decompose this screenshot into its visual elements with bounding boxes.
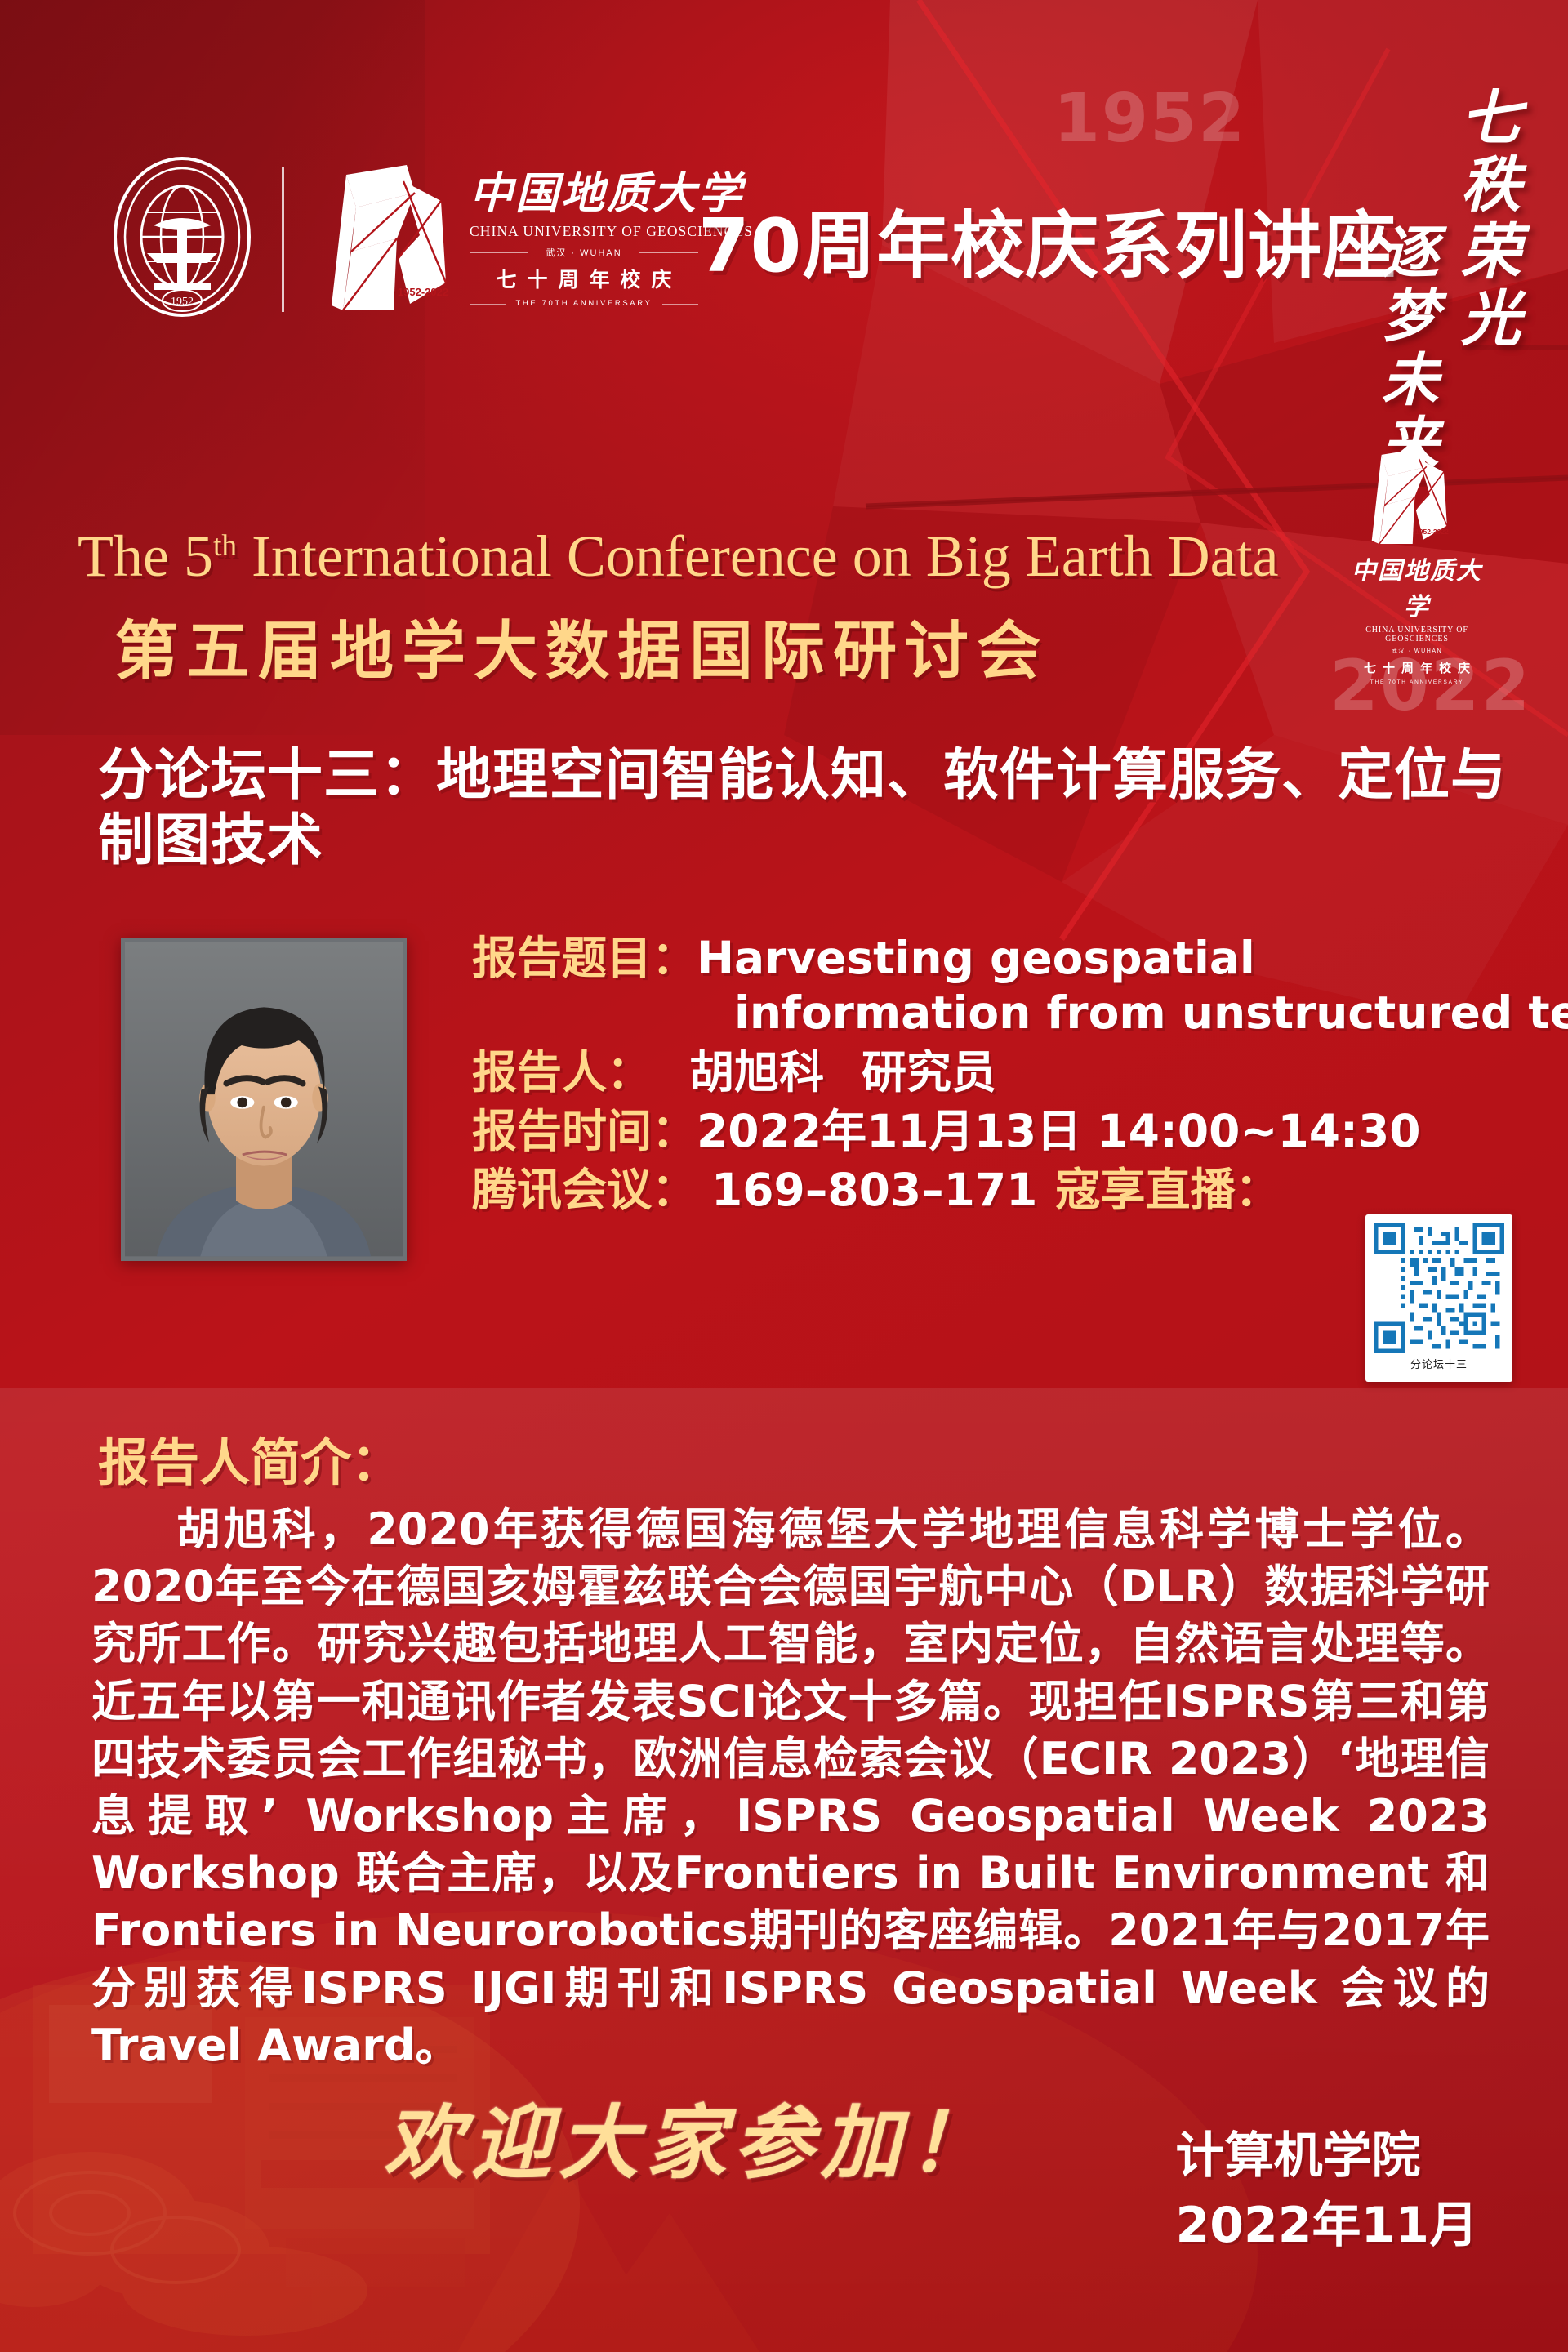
wordmark-small-chinese: 中国地质大学 — [1339, 550, 1494, 622]
logo-years-small: 1952-2022 — [1415, 528, 1449, 536]
meeting-row: 腾讯会议： 169–803–171 寇享直播： — [472, 1163, 1526, 1217]
conference-title-en-prefix: The 5 — [78, 523, 213, 589]
wordmark-english: CHINA UNIVERSITY OF GEOSCIENCES — [470, 223, 698, 240]
header-divider — [282, 167, 284, 312]
decor-year-1952: 1952 — [1053, 80, 1246, 158]
meeting-id[interactable]: 169–803–171 — [697, 1163, 1037, 1217]
footer-organizer: 计算机学院 — [1176, 2122, 1479, 2191]
university-seal-icon: 1952 — [105, 155, 260, 318]
talk-title-line1: Harvesting geospatial — [697, 932, 1255, 984]
footer-date: 2022年11月 — [1176, 2191, 1479, 2261]
conference-title-chinese: 第五届地学大数据国际研讨会 — [114, 600, 1049, 692]
wordmark-anniversary-en: THE 70TH ANNIVERSARY — [470, 299, 698, 308]
talk-title-value: Harvesting geospatial information from u… — [697, 931, 1568, 1040]
wordmark-chinese: 中国地质大学 — [470, 173, 698, 216]
talk-title-line2: information from unstructured texts — [697, 986, 1568, 1040]
time-value: 2022年11月13日 14:00~14:30 — [697, 1104, 1421, 1158]
livestream-qr-card[interactable]: 分论坛十三 — [1365, 1214, 1512, 1382]
meeting-label: 腾讯会议： — [472, 1163, 697, 1217]
speaker-portrait-photo — [121, 938, 407, 1261]
wordmark-small-anniversary-cn: 七十周年校庆 — [1339, 659, 1494, 676]
conference-title-english: The 5th International Conference on Big … — [78, 523, 1279, 590]
speaker-name: 胡旭科 — [652, 1045, 824, 1099]
lecture-series-title: 70周年校庆系列讲座 — [698, 186, 1396, 292]
speaker-rank: 研究员 — [824, 1045, 996, 1099]
calligraphy-line-2: 逐梦未来 — [1363, 222, 1445, 477]
live-label: 寇享直播： — [1037, 1163, 1280, 1217]
forum-heading: 分论坛十三：地理空间智能认知、软件计算服务、定位与制图技术 — [98, 743, 1519, 874]
anniversary-70-logo-icon: 1952-2022 — [318, 160, 482, 315]
talk-title-row: 报告题目： Harvesting geospatial information … — [472, 931, 1526, 1040]
speaker-row: 报告人： 胡旭科 研究员 — [472, 1045, 1526, 1099]
bio-heading: 报告人简介： — [98, 1421, 402, 1494]
welcome-message: 欢迎大家参加！ — [384, 2078, 996, 2194]
anniversary-70-logo-small-icon: 1952-2022 — [1356, 445, 1478, 547]
speaker-label: 报告人： — [472, 1045, 652, 1099]
qr-caption: 分论坛十三 — [1374, 1356, 1504, 1371]
talk-info-block: 报告题目： Harvesting geospatial information … — [472, 931, 1526, 1222]
footer-block: 计算机学院 2022年11月 — [1176, 2122, 1479, 2261]
time-row: 报告时间： 2022年11月13日 14:00~14:30 — [472, 1104, 1526, 1158]
poster-root: 1952 1952-2022 中国地质大学 CHINA UNIVERSITY O… — [0, 0, 1568, 2352]
wordmark-anniversary-cn: 七十周年校庆 — [470, 264, 698, 293]
bio-text: 胡旭科，2020年获得德国海德堡大学地理信息科学博士学位。2020年至今在德国亥… — [91, 1501, 1490, 2074]
logo-years: 1952-2022 — [398, 286, 448, 298]
wordmark-small-english: CHINA UNIVERSITY OF GEOSCIENCES — [1339, 626, 1494, 644]
svg-text:1952: 1952 — [171, 296, 194, 308]
poster-header: 1952 1952-2022 中国地质大学 CHINA UNIVERSITY O… — [0, 155, 1568, 327]
conference-title-en-ordinal: th — [213, 529, 237, 563]
talk-title-label: 报告题目： — [472, 931, 697, 985]
qr-code-icon[interactable] — [1374, 1223, 1504, 1353]
calligraphy-line-1: 七秩荣光 — [1441, 86, 1529, 354]
wordmark-city: 武汉 · WUHAN — [470, 246, 698, 259]
anniversary-logo-secondary: 1952-2022 中国地质大学 CHINA UNIVERSITY OF GEO… — [1339, 445, 1494, 649]
university-wordmark: 中国地质大学 CHINA UNIVERSITY OF GEOSCIENCES 武… — [470, 173, 698, 308]
conference-title-en-rest: International Conference on Big Earth Da… — [237, 523, 1279, 589]
time-label: 报告时间： — [472, 1104, 697, 1158]
wordmark-small-city: 武汉 · WUHAN — [1339, 647, 1494, 655]
decor-year-2022: 2022 — [1330, 645, 1531, 727]
wordmark-small-anniversary-en: THE 70TH ANNIVERSARY — [1339, 679, 1494, 685]
